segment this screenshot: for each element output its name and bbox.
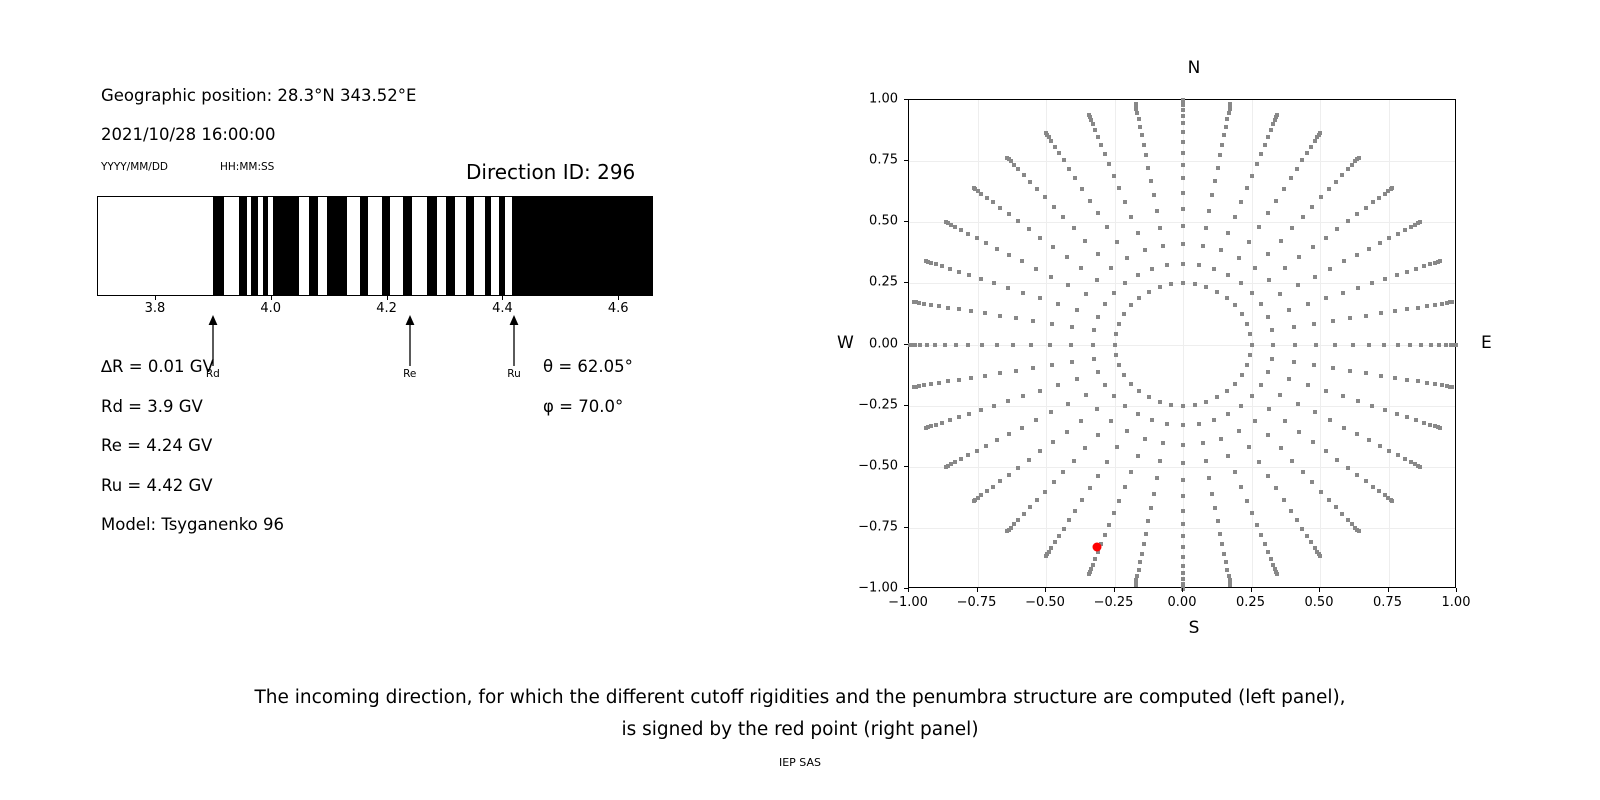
direction-dot xyxy=(1341,291,1345,295)
direction-dot xyxy=(1193,282,1197,286)
direction-dot xyxy=(1227,111,1231,115)
direction-dot xyxy=(1053,540,1057,544)
direction-dot xyxy=(1395,273,1399,277)
direction-dot xyxy=(1266,370,1270,374)
direction-dot xyxy=(1403,457,1407,461)
direction-dot xyxy=(998,206,1002,210)
direction-dot xyxy=(1245,322,1249,326)
sky-y-tick xyxy=(904,160,908,161)
direction-dot xyxy=(1204,459,1208,463)
direction-dot xyxy=(972,186,976,190)
direction-dot xyxy=(1225,117,1229,121)
direction-dot xyxy=(1212,267,1216,271)
direction-dot xyxy=(929,382,933,386)
direction-dot xyxy=(1038,389,1042,393)
direction-dot xyxy=(1181,443,1185,447)
penumbra-band xyxy=(446,197,455,295)
direction-dot xyxy=(1181,108,1185,112)
direction-dot xyxy=(1216,166,1220,170)
direction-dot xyxy=(1356,399,1360,403)
footer-credit: IEP SAS xyxy=(0,756,1600,769)
direction-dot xyxy=(1181,478,1185,482)
direction-dot xyxy=(1300,527,1304,531)
direction-dot xyxy=(1266,135,1270,139)
direction-dot xyxy=(1181,404,1185,408)
direction-dot xyxy=(1084,292,1088,296)
direction-dot xyxy=(1266,252,1270,256)
direction-dot xyxy=(1143,248,1147,252)
direction-dot xyxy=(983,374,987,378)
direction-dot xyxy=(1309,145,1313,149)
direction-dot xyxy=(1144,153,1148,157)
direction-dot xyxy=(1061,470,1065,474)
direction-dot xyxy=(1044,131,1048,135)
direction-dot xyxy=(1125,429,1129,433)
direction-dot xyxy=(979,277,983,281)
direction-dot xyxy=(1271,122,1275,126)
direction-dot xyxy=(1279,239,1283,243)
gridline-vertical xyxy=(1183,100,1184,587)
direction-dot xyxy=(1112,174,1116,178)
direction-dot xyxy=(967,273,971,277)
direction-dot xyxy=(1342,259,1346,263)
direction-dot xyxy=(1292,325,1296,329)
penumbra-band xyxy=(239,197,247,295)
direction-dot xyxy=(1087,572,1091,576)
direction-dot xyxy=(1136,231,1140,235)
direction-dot xyxy=(1422,421,1426,425)
figure-caption: The incoming direction, for which the di… xyxy=(0,682,1600,746)
direction-dot xyxy=(1095,278,1099,282)
direction-dot xyxy=(1109,419,1113,423)
direction-dot xyxy=(1390,186,1394,190)
direction-dot xyxy=(1419,343,1423,347)
direction-dot xyxy=(924,426,928,430)
direction-dot xyxy=(1146,519,1150,523)
direction-dot xyxy=(1270,328,1274,332)
direction-dot xyxy=(1181,571,1185,575)
direction-dot xyxy=(1378,444,1382,448)
direction-dot xyxy=(979,493,983,497)
direction-dot xyxy=(1348,369,1352,373)
sky-y-tick xyxy=(904,405,908,406)
caption-line-1: The incoming direction, for which the di… xyxy=(0,682,1600,714)
compass-east: E xyxy=(1481,333,1492,353)
direction-dot xyxy=(1438,426,1442,430)
direction-dot xyxy=(1393,309,1397,313)
direction-dot xyxy=(934,423,938,427)
direction-dot xyxy=(1197,422,1201,426)
sky-y-tick-label: 0.50 xyxy=(842,214,898,229)
direction-dot xyxy=(1346,219,1350,223)
direction-dot xyxy=(1147,395,1151,399)
geographic-position: Geographic position: 28.3°N 343.52°E xyxy=(101,86,416,105)
direction-dot xyxy=(1031,366,1035,370)
penumbra-tick-label: 4.2 xyxy=(376,301,397,316)
direction-dot xyxy=(1181,176,1185,180)
direction-dot xyxy=(1096,370,1100,374)
direction-dot xyxy=(992,281,996,285)
direction-dot xyxy=(912,300,916,304)
direction-dot xyxy=(1312,322,1316,326)
direction-dot xyxy=(1416,306,1420,310)
direction-dot xyxy=(1396,232,1400,236)
direction-dot xyxy=(1052,205,1056,209)
direction-dot xyxy=(1181,509,1185,513)
direction-dot xyxy=(1220,542,1224,546)
direction-dot xyxy=(1340,173,1344,177)
direction-dot xyxy=(1306,302,1310,306)
direction-dot xyxy=(1429,343,1433,347)
penumbra-band xyxy=(360,197,368,295)
direction-dot xyxy=(1301,215,1305,219)
direction-dot xyxy=(1287,377,1291,381)
direction-dot xyxy=(1181,151,1185,155)
direction-dot xyxy=(1075,377,1079,381)
direction-dot xyxy=(1169,282,1173,286)
direction-dot xyxy=(1028,505,1032,509)
direction-dot xyxy=(1351,343,1355,347)
direction-dot xyxy=(1021,394,1025,398)
direction-dot xyxy=(1282,187,1286,191)
direction-dot xyxy=(1355,212,1359,216)
direction-dot xyxy=(1324,389,1328,393)
direction-dot xyxy=(969,309,973,313)
direction-dot xyxy=(1158,459,1162,463)
direction-dot xyxy=(1165,263,1169,267)
direction-dot xyxy=(1181,522,1185,526)
compass-south: S xyxy=(1189,618,1200,638)
direction-dot xyxy=(1367,247,1371,251)
direction-dot xyxy=(1014,369,1018,373)
direction-dot xyxy=(1014,316,1018,320)
direction-dot xyxy=(1123,404,1127,408)
direction-dot xyxy=(1405,415,1409,419)
direction-dot xyxy=(1088,486,1092,490)
direction-dot xyxy=(1027,227,1031,231)
direction-dot xyxy=(1181,98,1185,102)
direction-dot xyxy=(1305,151,1309,155)
direction-dot xyxy=(1255,523,1259,527)
direction-dot xyxy=(1239,404,1243,408)
direction-dot xyxy=(1117,186,1121,190)
direction-dot xyxy=(1080,187,1084,191)
direction-dot xyxy=(1072,226,1076,230)
direction-dot xyxy=(1225,296,1229,300)
direction-dot xyxy=(998,371,1002,375)
direction-dot xyxy=(1070,360,1074,364)
direction-dot xyxy=(1297,430,1301,434)
direction-dot xyxy=(1377,489,1381,493)
sky-x-tick-label: 0.25 xyxy=(1236,595,1265,610)
direction-dot xyxy=(1222,552,1226,556)
sky-y-tick-label: −0.75 xyxy=(842,519,898,534)
direction-dot xyxy=(1311,440,1315,444)
direction-dot xyxy=(1393,376,1397,380)
penumbra-band xyxy=(263,197,268,295)
direction-dot xyxy=(995,438,999,442)
direction-dot xyxy=(1312,363,1316,367)
direction-dot xyxy=(1049,139,1053,143)
direction-dot xyxy=(1043,195,1047,199)
direction-dot xyxy=(1021,291,1025,295)
direction-dot xyxy=(1233,303,1237,307)
direction-dot xyxy=(1313,410,1317,414)
direction-dot xyxy=(1240,312,1244,316)
direction-dot xyxy=(1212,418,1216,422)
direction-dot xyxy=(1395,412,1399,416)
direction-dot xyxy=(1181,423,1185,427)
direction-dot xyxy=(1020,259,1024,263)
direction-dot xyxy=(1222,133,1226,137)
direction-dot xyxy=(1334,180,1338,184)
param-theta: θ = 62.05° xyxy=(543,357,633,376)
direction-dot xyxy=(1364,206,1368,210)
direction-dot xyxy=(1233,470,1237,474)
direction-dot xyxy=(1142,143,1146,147)
direction-dot xyxy=(1333,343,1337,347)
direction-dot xyxy=(1335,227,1339,231)
direction-dot xyxy=(954,343,958,347)
direction-dot xyxy=(1266,550,1270,554)
direction-dot xyxy=(1219,248,1223,252)
rigidity-marker-arrow xyxy=(397,314,423,366)
direction-dot xyxy=(985,489,989,493)
direction-dot xyxy=(1250,174,1254,178)
direction-dot xyxy=(1129,215,1133,219)
direction-dot xyxy=(1122,312,1126,316)
penumbra-band xyxy=(327,197,347,295)
direction-dot xyxy=(1207,476,1211,480)
direction-dot xyxy=(1440,302,1444,306)
direction-dot xyxy=(1370,404,1374,408)
direction-dot xyxy=(946,306,950,310)
direction-dot xyxy=(1378,241,1382,245)
direction-dot xyxy=(1125,256,1129,260)
direction-dot xyxy=(1387,236,1391,240)
direction-dot xyxy=(1038,236,1042,240)
direction-dot xyxy=(1105,460,1109,464)
direction-dot xyxy=(1403,228,1407,232)
penumbra-tick xyxy=(155,296,156,300)
direction-dot xyxy=(1253,266,1257,270)
direction-dot xyxy=(1181,545,1185,549)
direction-dot xyxy=(1152,492,1156,496)
direction-dot xyxy=(966,453,970,457)
direction-dot xyxy=(1103,533,1107,537)
direction-dot xyxy=(1364,371,1368,375)
direction-dot xyxy=(957,270,961,274)
direction-dot xyxy=(1096,252,1100,256)
direction-dot xyxy=(1181,494,1185,498)
direction-dot xyxy=(1070,325,1074,329)
direction-dot xyxy=(1137,568,1141,572)
direction-dot xyxy=(1005,156,1009,160)
direction-dot xyxy=(1204,285,1208,289)
direction-dot xyxy=(1418,220,1422,224)
direction-dot xyxy=(1405,270,1409,274)
direction-dot xyxy=(991,485,995,489)
direction-dot xyxy=(1239,281,1243,285)
direction-dot xyxy=(1216,519,1220,523)
sky-y-tick xyxy=(904,221,908,222)
direction-dot xyxy=(1259,383,1263,387)
direction-dot xyxy=(1437,343,1441,347)
direction-dot xyxy=(1007,253,1011,257)
direction-dot xyxy=(1228,102,1232,106)
direction-dot xyxy=(1052,480,1056,484)
direction-dot xyxy=(1115,445,1119,449)
direction-dot xyxy=(1416,379,1420,383)
direction-dot xyxy=(1152,193,1156,197)
direction-dot xyxy=(1117,499,1121,503)
direction-dot xyxy=(1215,290,1219,294)
direction-dot xyxy=(1450,300,1454,304)
direction-dot xyxy=(1348,316,1352,320)
direction-dot xyxy=(1181,281,1185,285)
direction-dot xyxy=(1219,437,1223,441)
direction-dot xyxy=(1319,195,1323,199)
direction-dot xyxy=(1091,122,1095,126)
direction-dot xyxy=(1226,412,1230,416)
sky-y-tick xyxy=(904,588,908,589)
direction-dot xyxy=(1134,583,1138,587)
gridline-vertical xyxy=(1320,100,1321,587)
direction-dot xyxy=(1138,125,1142,129)
sky-y-tick-label: −0.25 xyxy=(842,397,898,412)
direction-dot xyxy=(1067,167,1071,171)
direction-dot xyxy=(1301,470,1305,474)
direction-dot xyxy=(953,225,957,229)
sky-x-tick-label: 0.75 xyxy=(1373,595,1402,610)
date-format-hint: YYYY/MM/DD xyxy=(101,161,168,173)
datetime-value: 2021/10/28 16:00:00 xyxy=(101,125,275,144)
direction-dot xyxy=(1259,152,1263,156)
direction-dot xyxy=(1263,143,1267,147)
sky-y-tick-label: −1.00 xyxy=(842,581,898,596)
direction-dot xyxy=(1123,281,1127,285)
direction-dot xyxy=(1105,225,1109,229)
direction-dot xyxy=(1138,560,1142,564)
direction-dot xyxy=(1123,485,1127,489)
direction-dot xyxy=(918,343,922,347)
penumbra-x-axis: 3.84.04.24.44.6RdReRu xyxy=(97,296,653,352)
direction-dot xyxy=(1382,343,1386,347)
direction-dot xyxy=(1181,114,1185,118)
direction-dot xyxy=(1158,226,1162,230)
direction-dot xyxy=(1122,373,1126,377)
direction-dot xyxy=(1257,460,1261,464)
direction-dot xyxy=(1387,449,1391,453)
gridline-vertical xyxy=(1389,100,1390,587)
direction-dot xyxy=(1248,332,1252,336)
param-phi: φ = 70.0° xyxy=(543,397,623,416)
direction-dot xyxy=(1035,498,1039,502)
direction-dot xyxy=(1396,453,1400,457)
direction-dot xyxy=(1031,319,1035,323)
direction-dot xyxy=(1143,437,1147,441)
direction-dot xyxy=(1250,511,1254,515)
direction-dot xyxy=(1044,554,1048,558)
direction-dot xyxy=(1396,343,1400,347)
direction-dot xyxy=(1123,200,1127,204)
direction-dot xyxy=(1043,490,1047,494)
direction-dot xyxy=(1450,385,1454,389)
param-model: Model: Tsyganenko 96 xyxy=(101,515,284,534)
selected-direction-point[interactable] xyxy=(1092,543,1101,552)
direction-dot xyxy=(1005,529,1009,533)
direction-dot xyxy=(1112,511,1116,515)
sky-x-tick xyxy=(1319,588,1320,592)
direction-dot xyxy=(1390,499,1394,503)
direction-dot xyxy=(1266,433,1270,437)
direction-dot xyxy=(1137,117,1141,121)
direction-dot xyxy=(1107,523,1111,527)
direction-dot xyxy=(1096,211,1100,215)
direction-dot xyxy=(1327,498,1331,502)
direction-dot xyxy=(937,381,941,385)
direction-dot xyxy=(1367,438,1371,442)
direction-dot xyxy=(1364,479,1368,483)
direction-dot xyxy=(979,408,983,412)
sky-x-tick xyxy=(1456,588,1457,592)
rigidity-marker-label: Ru xyxy=(507,368,520,380)
direction-dot xyxy=(957,378,961,382)
direction-dot xyxy=(1006,286,1010,290)
direction-dot xyxy=(1083,239,1087,243)
rigidity-marker-arrow xyxy=(501,314,527,366)
direction-dot xyxy=(1107,162,1111,166)
sky-x-tick xyxy=(1251,588,1252,592)
direction-dot xyxy=(1181,262,1185,266)
sky-x-tick-label: −0.25 xyxy=(1094,595,1134,610)
direction-dot xyxy=(1114,353,1118,357)
direction-dot xyxy=(1027,458,1031,462)
sky-x-tick xyxy=(1045,588,1046,592)
direction-dot xyxy=(1218,532,1222,536)
sky-y-tick xyxy=(904,282,908,283)
direction-dot xyxy=(1270,357,1274,361)
penumbra-band xyxy=(213,197,225,295)
direction-dot xyxy=(1213,506,1217,510)
direction-dot xyxy=(1328,267,1332,271)
direction-dot xyxy=(1331,319,1335,323)
direction-dot xyxy=(975,236,979,240)
direction-dot xyxy=(1075,308,1079,312)
direction-dot xyxy=(975,449,979,453)
direction-dot xyxy=(1067,518,1071,522)
direction-dot xyxy=(1161,441,1165,445)
penumbra-tick-label: 4.0 xyxy=(260,301,281,316)
direction-dot xyxy=(1181,121,1185,125)
direction-dot xyxy=(1290,226,1294,230)
direction-dot xyxy=(957,307,961,311)
direction-dot xyxy=(1433,382,1437,386)
direction-dot xyxy=(1379,311,1383,315)
direction-dot xyxy=(1278,292,1282,296)
direction-dot xyxy=(1011,343,1015,347)
direction-dot xyxy=(1181,130,1185,134)
direction-dot xyxy=(1117,363,1121,367)
penumbra-band xyxy=(273,197,298,295)
time-format-hint: HH:MM:SS xyxy=(220,161,274,173)
direction-dot xyxy=(1016,466,1020,470)
direction-dot xyxy=(1271,343,1275,347)
direction-dot xyxy=(1056,383,1060,387)
direction-dot xyxy=(1103,152,1107,156)
direction-dot xyxy=(1334,505,1338,509)
direction-dot xyxy=(1169,403,1173,407)
